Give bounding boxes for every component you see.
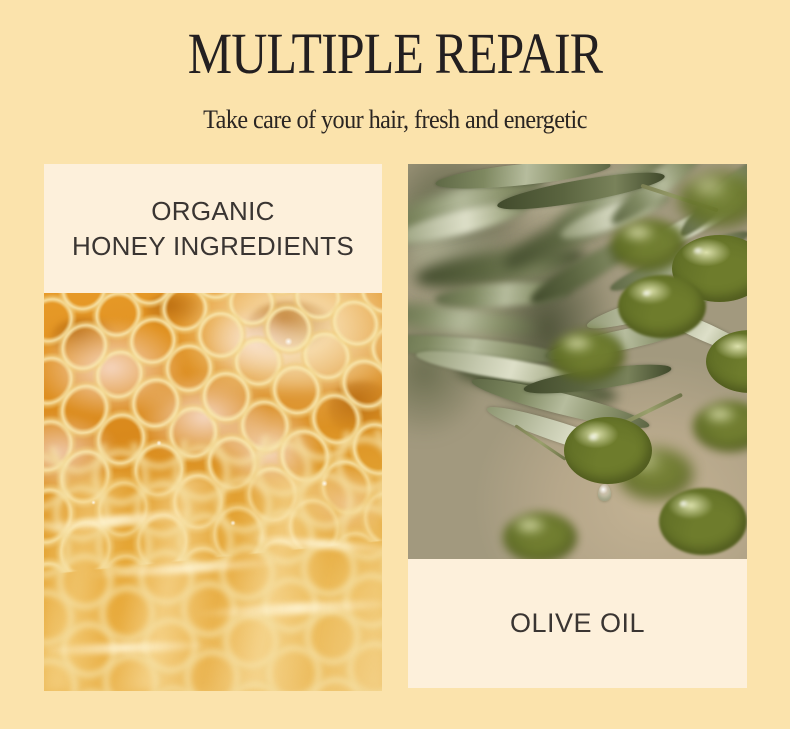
olive-highlight (693, 247, 705, 256)
olive-fruit (564, 417, 652, 484)
olive-fruit (503, 512, 578, 559)
olive-caption-text: OLIVE OIL (510, 606, 645, 642)
honey-caption-line2: HONEY INGREDIENTS (72, 231, 354, 261)
honey-panel: ORGANIC HONEY INGREDIENTS (44, 164, 382, 691)
olive-highlight (679, 500, 690, 509)
honey-caption-line1: ORGANIC (151, 196, 274, 226)
honey-highlight-dot (156, 440, 162, 446)
olive-panel: OLIVE OIL (408, 164, 747, 688)
page-title: MULTIPLE REPAIR (55, 24, 734, 84)
honey-caption-box: ORGANIC HONEY INGREDIENTS (44, 164, 382, 293)
honey-caption-text: ORGANIC HONEY INGREDIENTS (72, 194, 354, 263)
header: MULTIPLE REPAIR Take care of your hair, … (0, 0, 790, 160)
page-subtitle: Take care of your hair, fresh and energe… (28, 104, 763, 136)
water-droplet-icon (598, 484, 611, 501)
olive-fruit (618, 275, 706, 338)
olive-branch-photo (408, 164, 747, 559)
olive-fruit (550, 330, 625, 381)
honeycomb-photo (44, 293, 382, 691)
honey-highlight-dot (284, 337, 293, 346)
olive-fruit (659, 488, 747, 555)
olive-caption-box: OLIVE OIL (408, 559, 747, 688)
honey-highlight-dot (230, 520, 236, 526)
olive-highlight (588, 433, 601, 443)
